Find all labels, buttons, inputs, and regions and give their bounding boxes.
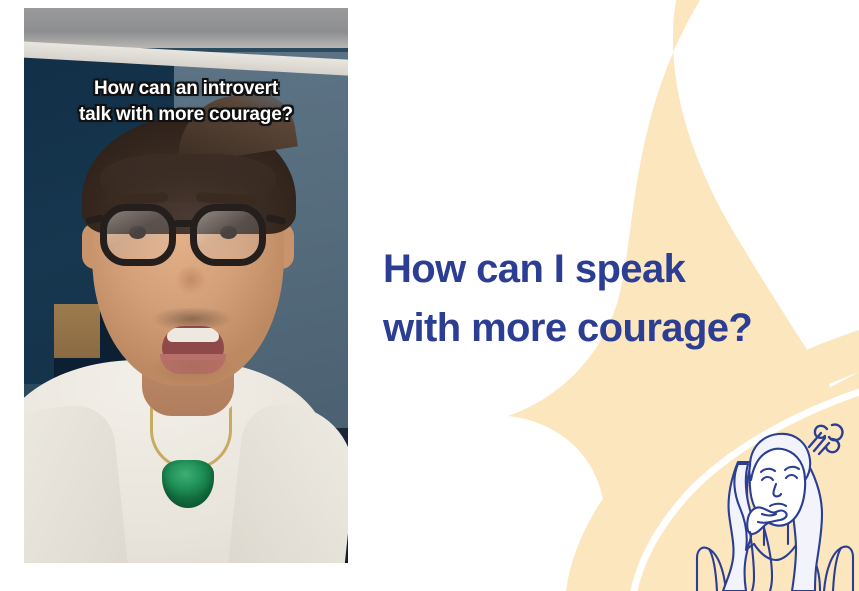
page-title: How can I speak with more courage? bbox=[383, 240, 813, 358]
illustration-collar bbox=[754, 542, 798, 560]
slide-canvas: How can an introvert talk with more cour… bbox=[0, 0, 859, 591]
video-caption-line-1: How can an introvert bbox=[34, 76, 338, 102]
subject-shoulder-right bbox=[227, 400, 348, 563]
video-caption-overlay: How can an introvert talk with more cour… bbox=[34, 76, 338, 127]
subject-glasses-lens-right bbox=[190, 204, 266, 266]
subject-glasses-bridge bbox=[174, 220, 194, 227]
subject-nose bbox=[174, 266, 208, 300]
video-caption-line-2: talk with more courage? bbox=[34, 102, 338, 128]
thinking-swirl-icon bbox=[809, 425, 842, 454]
page-title-line-1: How can I speak bbox=[383, 240, 813, 299]
illustration-hand bbox=[747, 507, 786, 534]
page-title-line-2: with more courage? bbox=[383, 299, 813, 358]
woman-thinking-illustration bbox=[692, 402, 859, 591]
subject-teeth bbox=[167, 328, 219, 342]
video-bg-wood-panel bbox=[54, 304, 100, 358]
swoosh-gap-line bbox=[735, 0, 859, 452]
illustration-forearm bbox=[750, 532, 754, 591]
video-bg-ceiling bbox=[24, 8, 348, 48]
subject-chin bbox=[148, 360, 238, 392]
video-thumbnail[interactable]: How can an introvert talk with more cour… bbox=[24, 8, 348, 563]
subject-glasses-lens-left bbox=[100, 204, 176, 266]
